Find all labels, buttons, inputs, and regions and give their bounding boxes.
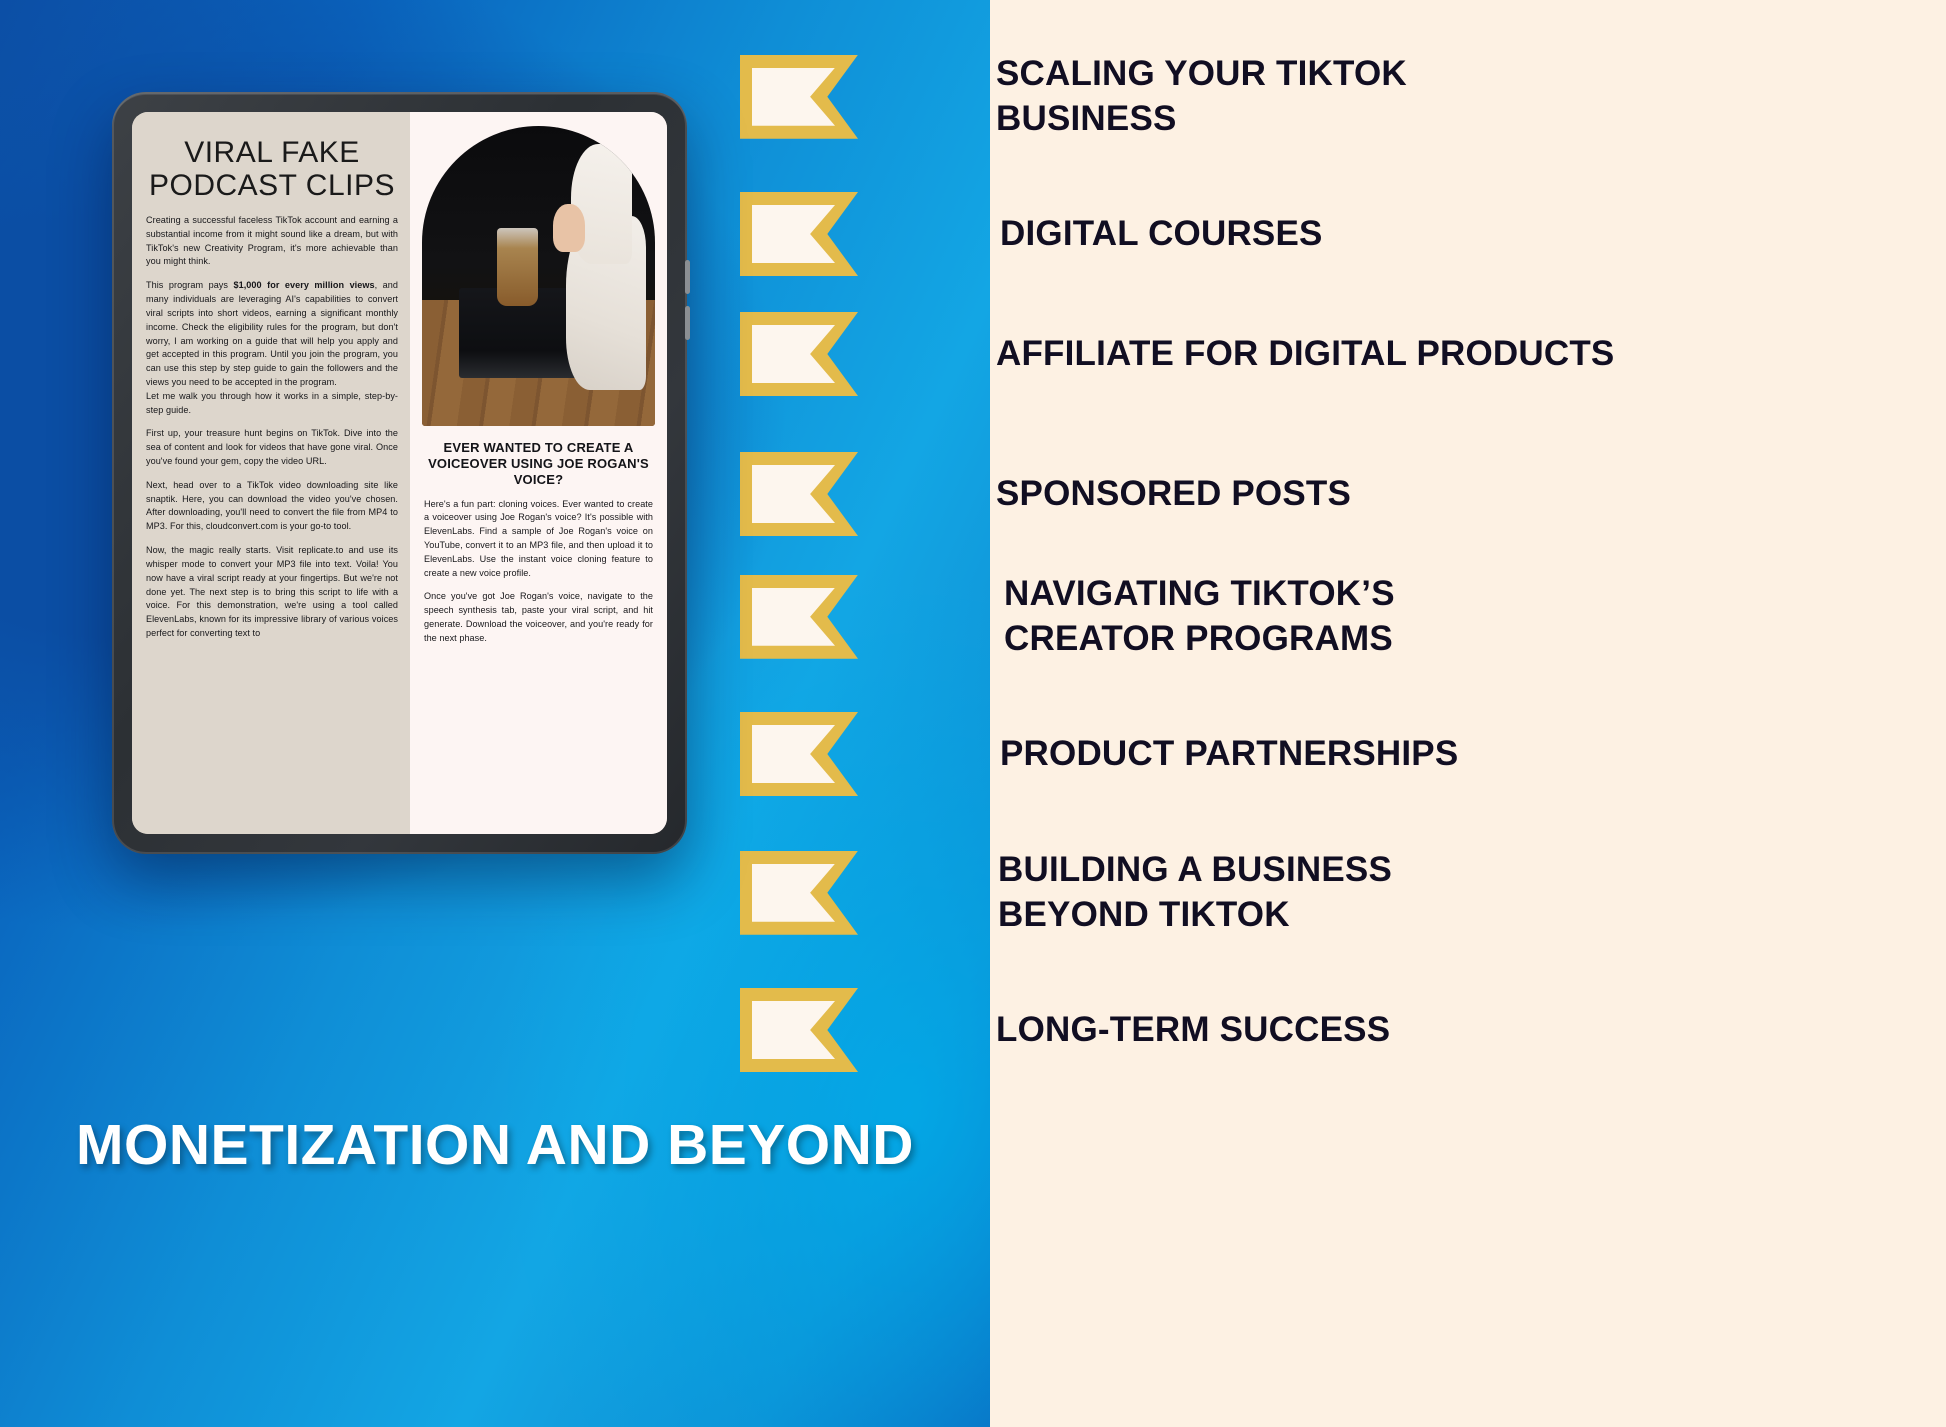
document-title: VIRAL FAKE PODCAST CLIPS: [146, 136, 398, 202]
banner-flag-icon: [740, 988, 858, 1072]
topic-flag-label: SPONSORED POSTS: [996, 472, 1351, 517]
tablet-screen: VIRAL FAKE PODCAST CLIPS Creating a succ…: [132, 112, 667, 834]
laptop-coffee-photo: [422, 126, 655, 426]
document-paragraph: Now, the magic really starts. Visit repl…: [146, 544, 398, 641]
banner-flag-icon: [740, 192, 858, 276]
document-paragraph: Creating a successful faceless TikTok ac…: [146, 214, 398, 269]
banner-flag-inner: [752, 325, 835, 383]
document-right-column: EVER WANTED TO CREATE A VOICEOVER USING …: [410, 112, 667, 834]
topic-flag-label: LONG-TERM SUCCESS: [996, 1008, 1390, 1053]
document-paragraph: Here's a fun part: cloning voices. Ever …: [424, 498, 653, 581]
banner-flag-icon: [740, 312, 858, 396]
tablet-volume-down-button[interactable]: [685, 306, 690, 340]
topic-flag-row[interactable]: SCALING YOUR TIKTOK BUSINESS: [740, 52, 1407, 142]
banner-flag-inner: [752, 205, 835, 263]
topic-flag-label: AFFILIATE FOR DIGITAL PRODUCTS: [996, 332, 1614, 377]
topic-flag-label: BUILDING A BUSINESS BEYOND TIKTOK: [998, 848, 1392, 938]
topic-flag-row[interactable]: PRODUCT PARTNERSHIPS: [740, 712, 1458, 796]
tablet-mockup: VIRAL FAKE PODCAST CLIPS Creating a succ…: [112, 92, 687, 854]
tablet-volume-up-button[interactable]: [685, 260, 690, 294]
topic-flag-label: NAVIGATING TIKTOK’S CREATOR PROGRAMS: [1004, 572, 1395, 662]
topic-flag-row[interactable]: BUILDING A BUSINESS BEYOND TIKTOK: [740, 848, 1392, 938]
banner-flag-icon: [740, 712, 858, 796]
infographic-page: VIRAL FAKE PODCAST CLIPS Creating a succ…: [0, 0, 1946, 1427]
banner-flag-inner: [752, 465, 835, 523]
banner-flag-inner: [752, 588, 835, 646]
iced-coffee-cup: [497, 228, 539, 306]
topic-flag-row[interactable]: SPONSORED POSTS: [740, 452, 1351, 536]
topic-flag-row[interactable]: AFFILIATE FOR DIGITAL PRODUCTS: [740, 312, 1614, 396]
topic-flag-label: PRODUCT PARTNERSHIPS: [1000, 732, 1458, 777]
banner-flag-icon: [740, 851, 858, 935]
document-subheading: EVER WANTED TO CREATE A VOICEOVER USING …: [424, 440, 653, 488]
right-cream-panel: SCALING YOUR TIKTOK BUSINESSDIGITAL COUR…: [990, 0, 1946, 1427]
banner-flag-inner: [752, 864, 835, 922]
banner-flag-icon: [740, 452, 858, 536]
document-paragraph: Next, head over to a TikTok video downlo…: [146, 479, 398, 534]
topic-flag-label: SCALING YOUR TIKTOK BUSINESS: [996, 52, 1407, 142]
banner-flag-icon: [740, 575, 858, 659]
document-paragraph: This program pays $1,000 for every milli…: [146, 279, 398, 417]
brand-title: MONETIZATION AND BEYOND: [0, 1115, 990, 1177]
topic-flag-row[interactable]: DIGITAL COURSES: [740, 192, 1323, 276]
hand: [553, 204, 586, 252]
document-paragraph: First up, your treasure hunt begins on T…: [146, 427, 398, 468]
banner-flag-inner: [752, 68, 835, 126]
banner-flag-inner: [752, 725, 835, 783]
topic-flag-row[interactable]: NAVIGATING TIKTOK’S CREATOR PROGRAMS: [740, 572, 1395, 662]
topic-flag-row[interactable]: LONG-TERM SUCCESS: [740, 988, 1390, 1072]
document-paragraph: Once you've got Joe Rogan's voice, navig…: [424, 590, 653, 645]
topic-flag-list: SCALING YOUR TIKTOK BUSINESSDIGITAL COUR…: [740, 0, 1946, 1427]
document-left-column: VIRAL FAKE PODCAST CLIPS Creating a succ…: [132, 112, 410, 834]
banner-flag-icon: [740, 55, 858, 139]
banner-flag-inner: [752, 1001, 835, 1059]
topic-flag-label: DIGITAL COURSES: [1000, 212, 1323, 257]
